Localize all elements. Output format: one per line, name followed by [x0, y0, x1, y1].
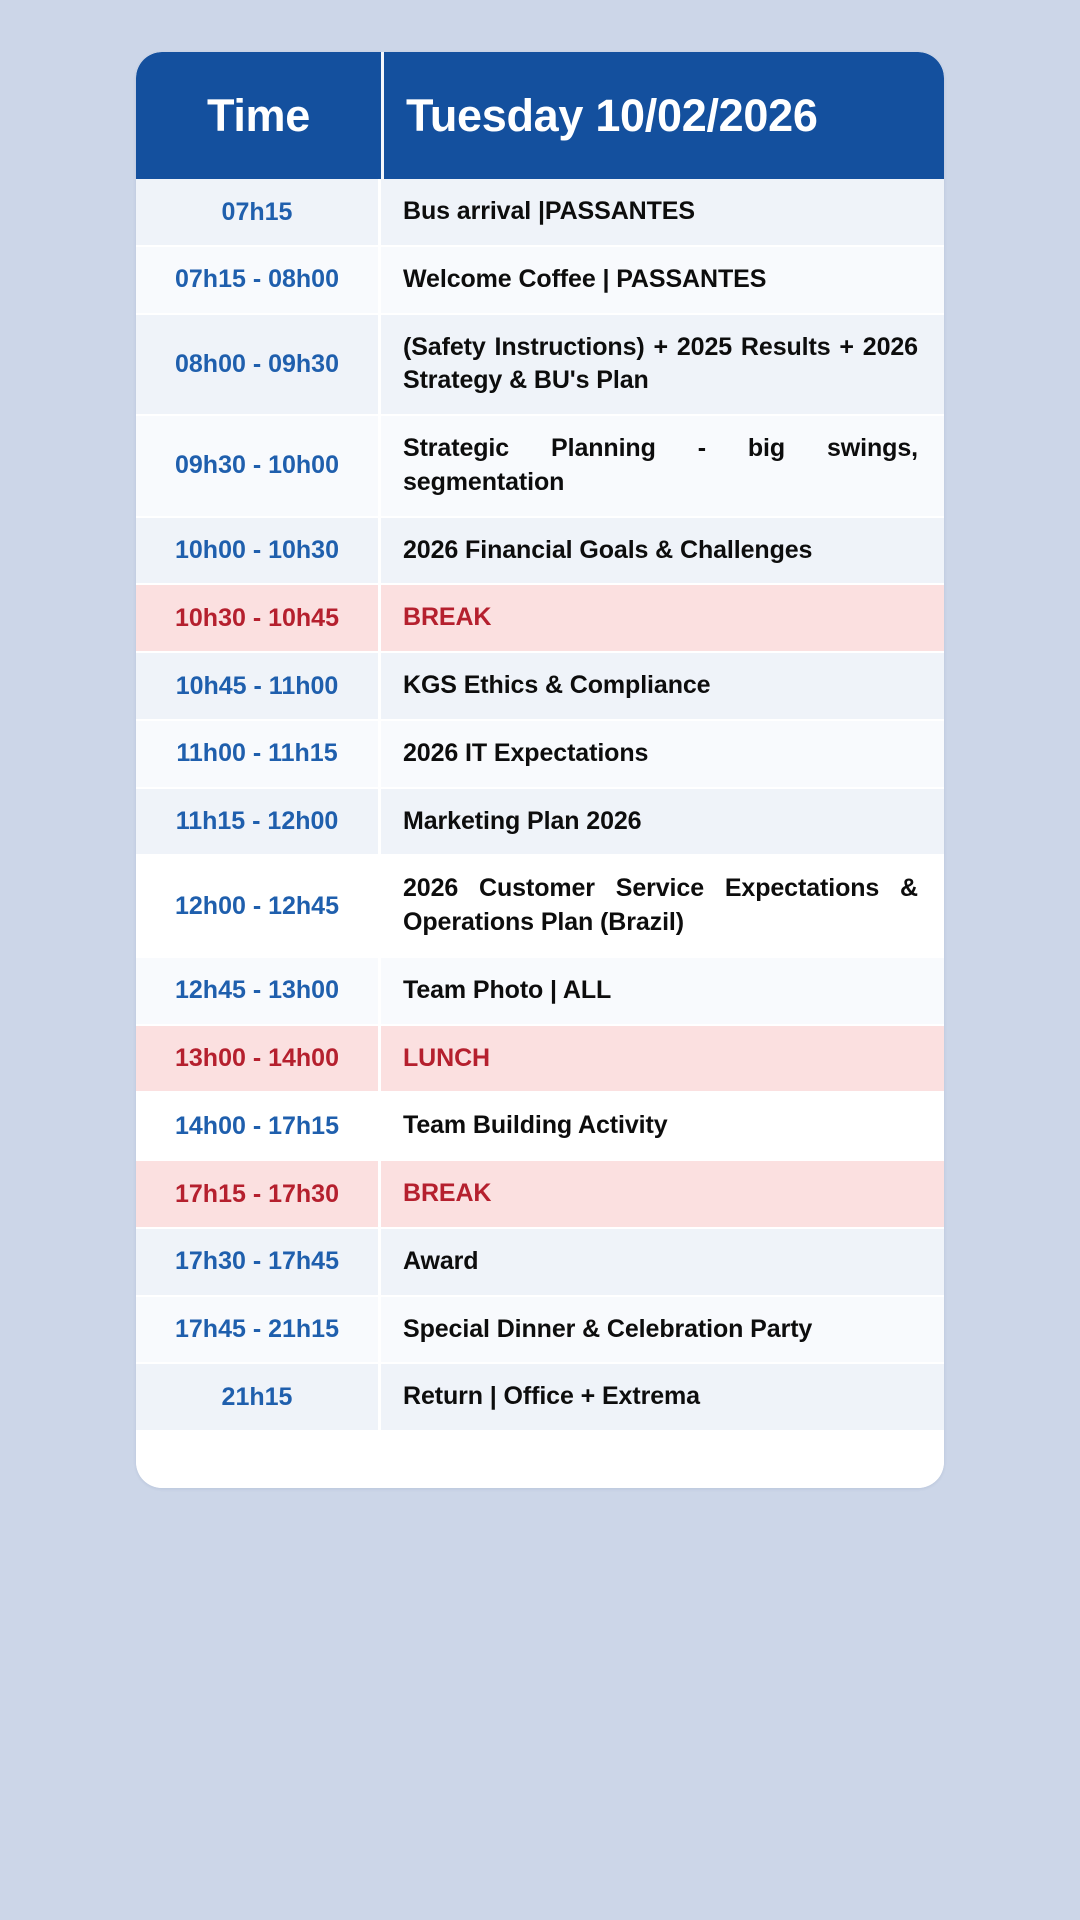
row-time: 17h45 - 21h15 [136, 1297, 381, 1365]
schedule-row: 13h00 - 14h00LUNCH [136, 1026, 944, 1094]
row-activity: Strategic Planning - big swings, segment… [381, 416, 944, 518]
row-time: 10h30 - 10h45 [136, 585, 381, 653]
row-time: 10h45 - 11h00 [136, 653, 381, 721]
schedule-row: 11h00 - 11h152026 IT Expectations [136, 721, 944, 789]
row-activity: Team Photo | ALL [381, 958, 944, 1026]
schedule-row: 14h00 - 17h15Team Building Activity [136, 1093, 944, 1161]
card-footer [136, 1432, 944, 1488]
row-activity: (Safety Instructions) + 2025 Results + 2… [381, 315, 944, 417]
schedule-row: 09h30 - 10h00Strategic Planning - big sw… [136, 416, 944, 518]
schedule-row: 07h15Bus arrival |PASSANTES [136, 179, 944, 247]
row-activity: Return | Office + Extrema [381, 1364, 944, 1432]
page-root: Time Tuesday 10/02/2026 07h15Bus arrival… [0, 0, 1080, 1920]
row-time: 13h00 - 14h00 [136, 1026, 381, 1094]
schedule-row: 10h30 - 10h45BREAK [136, 585, 944, 653]
row-time: 11h15 - 12h00 [136, 789, 381, 857]
row-time: 11h00 - 11h15 [136, 721, 381, 789]
row-time: 07h15 - 08h00 [136, 247, 381, 315]
row-time: 12h00 - 12h45 [136, 856, 381, 958]
row-activity: KGS Ethics & Compliance [381, 653, 944, 721]
row-activity: BREAK [381, 1161, 944, 1229]
schedule-row: 17h45 - 21h15Special Dinner & Celebratio… [136, 1297, 944, 1365]
row-time: 09h30 - 10h00 [136, 416, 381, 518]
row-activity: 2026 Financial Goals & Challenges [381, 518, 944, 586]
schedule-row: 12h45 - 13h00Team Photo | ALL [136, 958, 944, 1026]
row-activity: BREAK [381, 585, 944, 653]
column-header-day: Tuesday 10/02/2026 [384, 52, 944, 179]
row-activity: 2026 Customer Service Expectations & Ope… [381, 856, 944, 958]
schedule-row: 21h15Return | Office + Extrema [136, 1364, 944, 1432]
schedule-card: Time Tuesday 10/02/2026 07h15Bus arrival… [136, 52, 944, 1488]
row-time: 10h00 - 10h30 [136, 518, 381, 586]
schedule-row: 11h15 - 12h00Marketing Plan 2026 [136, 789, 944, 857]
row-activity: Special Dinner & Celebration Party [381, 1297, 944, 1365]
schedule-row: 12h00 - 12h452026 Customer Service Expec… [136, 856, 944, 958]
row-time: 17h15 - 17h30 [136, 1161, 381, 1229]
row-time: 12h45 - 13h00 [136, 958, 381, 1026]
table-body: 07h15Bus arrival |PASSANTES07h15 - 08h00… [136, 179, 944, 1432]
row-activity: Bus arrival |PASSANTES [381, 179, 944, 247]
schedule-row: 07h15 - 08h00Welcome Coffee | PASSANTES [136, 247, 944, 315]
row-time: 21h15 [136, 1364, 381, 1432]
table-header: Time Tuesday 10/02/2026 [136, 52, 944, 179]
row-time: 08h00 - 09h30 [136, 315, 381, 417]
schedule-row: 10h45 - 11h00KGS Ethics & Compliance [136, 653, 944, 721]
row-activity: Marketing Plan 2026 [381, 789, 944, 857]
row-activity: Team Building Activity [381, 1093, 944, 1161]
row-activity: LUNCH [381, 1026, 944, 1094]
schedule-row: 17h30 - 17h45Award [136, 1229, 944, 1297]
row-activity: Welcome Coffee | PASSANTES [381, 247, 944, 315]
row-activity: 2026 IT Expectations [381, 721, 944, 789]
schedule-row: 08h00 - 09h30(Safety Instructions) + 202… [136, 315, 944, 417]
row-time: 07h15 [136, 179, 381, 247]
row-time: 14h00 - 17h15 [136, 1093, 381, 1161]
schedule-row: 10h00 - 10h302026 Financial Goals & Chal… [136, 518, 944, 586]
row-activity: Award [381, 1229, 944, 1297]
column-header-time: Time [136, 52, 384, 179]
row-time: 17h30 - 17h45 [136, 1229, 381, 1297]
schedule-row: 17h15 - 17h30BREAK [136, 1161, 944, 1229]
